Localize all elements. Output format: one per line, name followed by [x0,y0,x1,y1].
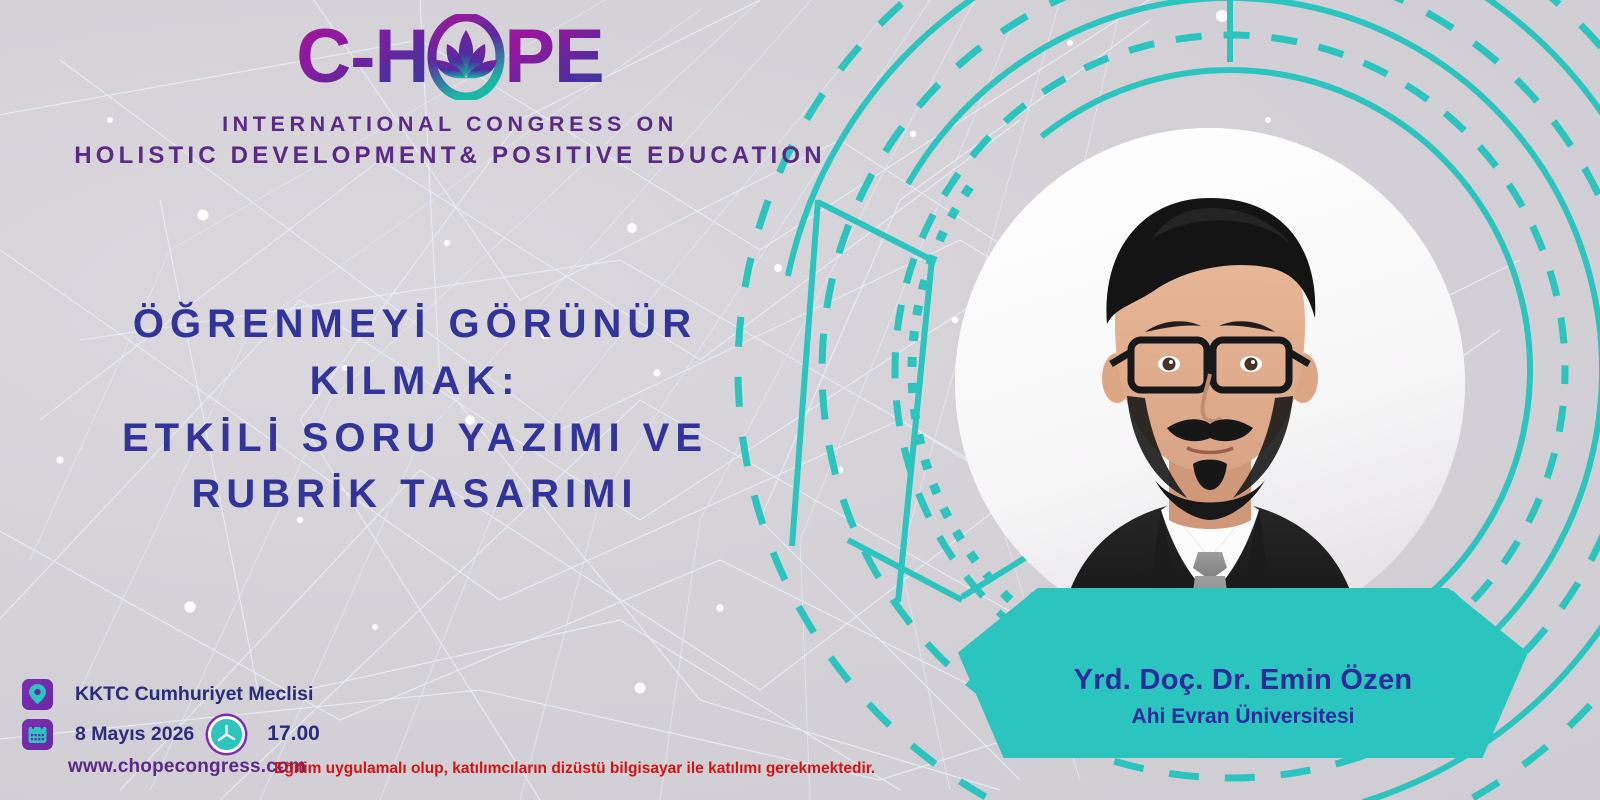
poster-header: C-H [0,14,900,170]
portrait-illustration [955,128,1465,638]
speaker-affiliation: Ahi Evran Üniversitesi [958,705,1528,729]
logo-text-left: C-H [296,19,428,95]
event-poster: C-H [0,0,1600,800]
congress-subtitle-line1: INTERNATIONAL CONGRESS ON [0,112,900,137]
title-line-1: ÖĞRENMEYİ GÖRÜNÜR [0,296,830,353]
venue-row: KKTC Cumhuriyet Meclisi [22,676,902,712]
title-line-2: KILMAK: [0,353,830,410]
logo-text-right: PE [504,19,603,95]
speaker-nameplate: Yrd. Doç. Dr. Emin Özen Ahi Evran Üniver… [958,588,1528,758]
speaker-name: Yrd. Doç. Dr. Emin Özen [958,664,1528,697]
venue-label: KKTC Cumhuriyet Meclisi [75,683,313,706]
participation-notice: Eğitim uygulamalı olup, katılımcıların d… [274,760,875,778]
event-date: 8 Mayıs 2026 [75,723,194,746]
title-line-3: ETKİLİ SORU YAZIMI VE [0,410,830,467]
clock-icon [208,716,245,753]
event-time: 17.00 [267,722,320,746]
location-pin-icon [22,679,53,710]
calendar-icon [22,719,53,750]
lotus-icon [425,14,507,100]
page-title: ÖĞRENMEYİ GÖRÜNÜR KILMAK: ETKİLİ SORU YA… [0,296,830,523]
congress-subtitle-line2: HOLISTIC DEVELOPMENT& POSITIVE EDUCATION [0,142,900,170]
date-time-row: 8 Mayıs 2026 17.00 [22,716,902,752]
speaker-portrait [955,128,1465,638]
title-line-4: RUBRİK TASARIMI [0,466,830,523]
brand-logo: C-H [0,14,900,100]
